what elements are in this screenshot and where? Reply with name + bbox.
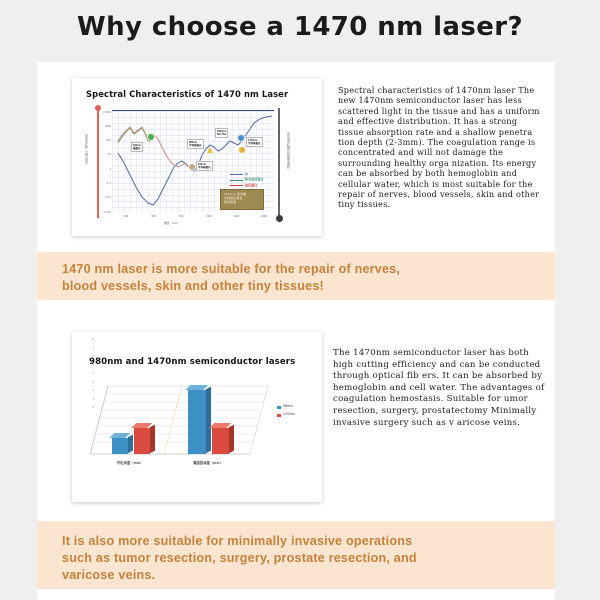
spectral-x-tick: 400 [124,215,128,218]
bar-980nm-group1 [112,438,128,454]
bar-chart-y-tick: 8 [93,338,94,341]
annotation-980nm-label: 980nm半导体激光 [187,139,204,149]
marker-dot-amber-icon [238,146,246,154]
page-root: Why choose a 1470 nm laser? Spectral Cha… [0,0,600,600]
marker-triangle-yellow-icon [207,147,213,153]
marker-dot-blue-icon [237,134,245,142]
spectral-x-tick: 800 [179,215,183,218]
bar-front-face [134,428,150,454]
spectral-legend-swatch [230,180,243,181]
spectral-y-tick: 100 [106,139,111,142]
spectral-y-tick: 10 [108,153,111,156]
bar-front-face [212,428,229,454]
spectral-legend-item: 血红蛋白 [230,183,274,188]
spectral-x-tick: 600 [151,215,155,218]
spectral-note-line: 同时吸收 [224,200,260,204]
annotation-810nm-label: 810nm半导体激光 [196,161,213,171]
callout-banner-1-text: 1470 nm laser is more suitable for the r… [62,261,540,295]
spectral-legend: 水氧合血红蛋白血红蛋白 [230,172,274,188]
annotation-1064nm-label: 1064nmNd:YAG [215,128,228,138]
spectral-legend-label: 血红蛋白 [245,183,257,187]
spectral-y-tick-labels: 1000010001001010.10.010.001 [102,112,111,212]
bar-side-face [229,425,234,453]
callout-banner-1: 1470 nm laser is more suitable for the r… [37,252,555,300]
callout-banner-2: It is also more suitable for minimally i… [37,521,555,589]
page-title: Why choose a 1470 nm laser? [0,12,600,42]
spectral-note-box: 1470nm 激光被水和血红蛋白同时吸收 [220,189,264,210]
comparison-description-text: The 1470nm semiconductor laser has both … [333,348,545,429]
spectral-right-axis [278,108,280,218]
spectral-description-text: Spectral characteristics of 1470nm laser… [338,85,543,210]
spectral-y-tick: 0.001 [104,211,112,214]
spectral-left-axis [97,108,99,218]
annotation-532nm-label: 532nm绿激光 [131,142,143,152]
bar-front-face [188,390,206,454]
bar-side-face [206,387,211,453]
bar-chart-y-tick: 4 [93,372,94,375]
bar-chart-legend-swatch [277,406,281,410]
spectral-x-tick: 1800 [261,215,267,218]
bar-chart-y-tick: 5 [93,364,94,367]
spectral-legend-swatch [230,174,243,175]
spectral-x-tick: 1400 [234,215,240,218]
marker-dot-tan-icon [188,163,196,171]
spectral-plot-area: 532nm绿激光 810nm半导体激光 980nm半导体激光 1064nmNd:… [112,110,274,212]
spectral-x-tick-labels: 400600800100014001800 [112,215,274,223]
bar-side-face [150,425,155,453]
bar-chart-category-label-1: 汽化深度（mm） [117,460,143,465]
series-oxyhemoglobin-line [118,128,150,143]
annotation-1470nm-label: 1470nm半导体激光 [246,137,263,147]
spectral-x-tick: 1000 [206,215,212,218]
spectral-y-tick: 0.1 [107,182,111,185]
bar-chart-legend-swatch [277,414,281,418]
spectral-characteristics-card: Spectral Characteristics of 1470 nm Lase… [72,78,322,236]
spectral-y-tick: 1 [109,168,111,171]
bar-chart-3d-floor [90,376,268,472]
bar-chart-plot-area: 汽化深度（mm） 凝固层深度（mm） [90,376,268,472]
spectral-x-axis-label: 波长（nm） [164,221,180,225]
spectral-right-axis-label: 水及血红蛋白吸收曲线 [286,132,290,169]
bar-980nm-group2 [188,390,206,454]
bar-1470nm-group1 [134,428,150,454]
bar-1470nm-group2 [212,428,229,454]
spectral-right-axis-cap-icon [276,215,283,222]
semiconductor-laser-comparison-card: 980nm and 1470nm semiconductor lasers 87… [72,332,322,502]
spectral-y-tick: 1000 [104,125,111,128]
bar-chart-y-tick: 6 [93,355,94,358]
bar-chart-legend-label: 980nm [283,404,293,408]
bar-front-face [112,438,128,454]
spectral-legend-swatch [230,185,243,186]
bar-chart-title: 980nm and 1470nm semiconductor lasers [89,357,295,367]
spectral-legend-label: 氧合血红蛋白 [245,177,264,181]
bar-chart-y-tick: 7 [93,347,94,350]
marker-dot-green-icon [147,133,155,141]
bar-chart-legend-label: 1470nm [283,412,295,416]
callout-banner-2-text: It is also more suitable for minimally i… [62,533,540,584]
spectral-y-tick: 0.01 [105,196,111,199]
spectral-left-axis-cap-icon [95,105,101,111]
spectral-left-axis-label: 吸收系数（相对值） [84,134,88,167]
spectral-legend-label: 水 [245,172,248,176]
bar-side-face [128,435,133,453]
bar-chart-category-label-2: 凝固层深度（mm） [193,460,223,465]
spectral-chart-title: Spectral Characteristics of 1470 nm Lase… [86,89,288,99]
spectral-y-tick: 10000 [103,111,111,114]
